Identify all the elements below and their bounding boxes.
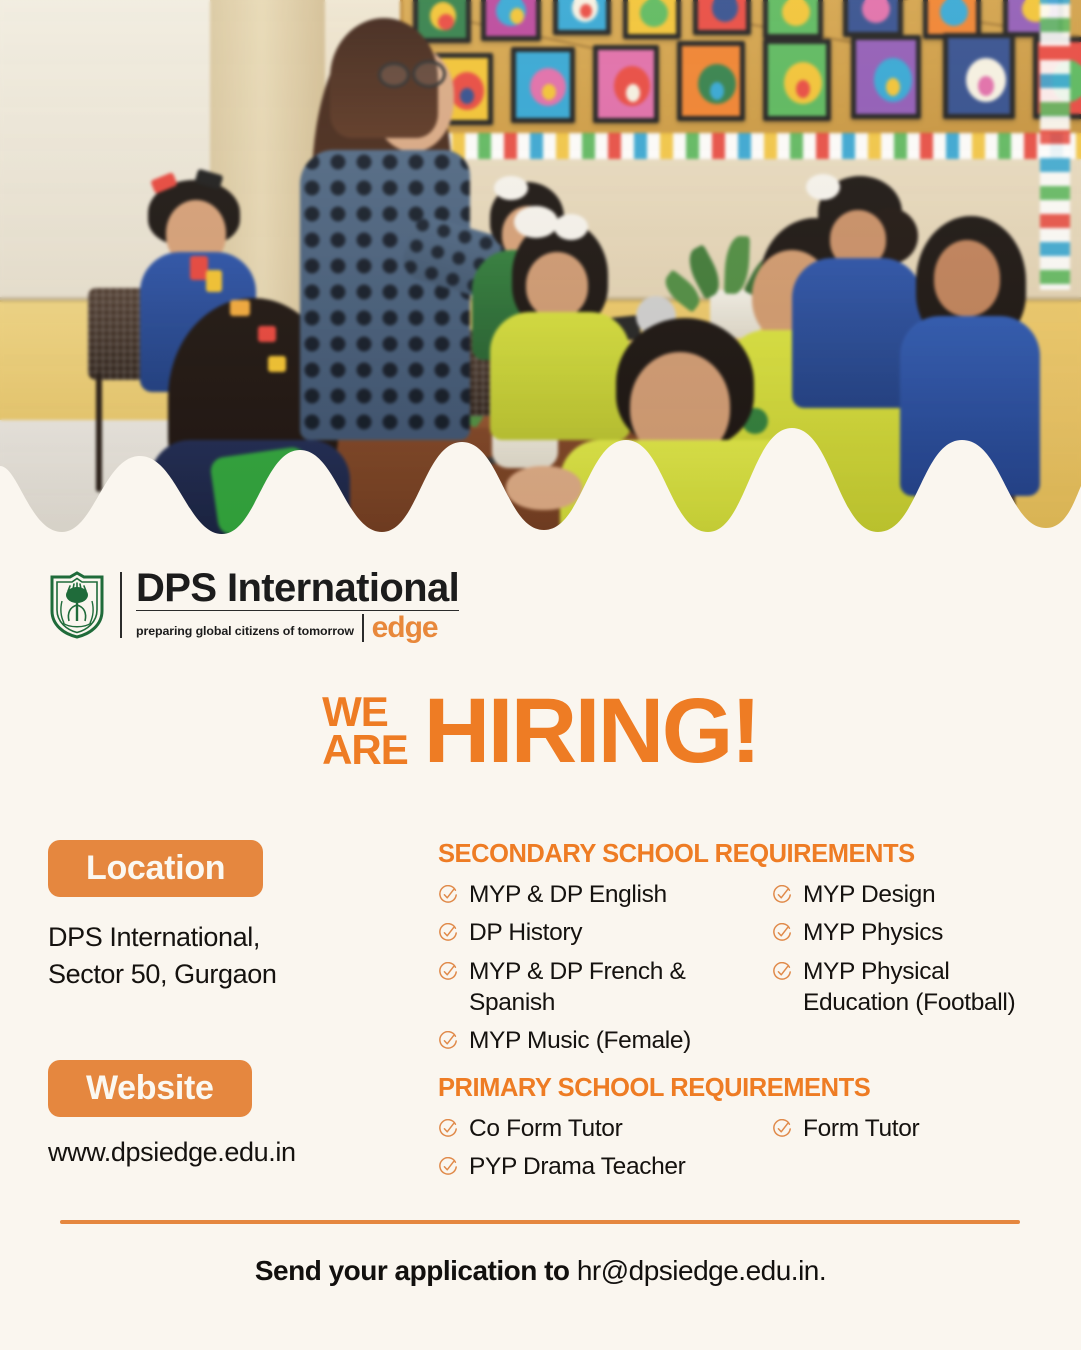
address-line-2: Sector 50, Gurgaon [48, 956, 398, 993]
requirement-label: Form Tutor [803, 1113, 919, 1144]
logo-wordmark: DPS International preparing global citiz… [136, 568, 459, 642]
check-circle-icon [438, 885, 458, 905]
primary-requirements-grid: Co Form Tutor PYP Drama Teacher [438, 1109, 1038, 1186]
requirement-label: DP History [469, 917, 582, 948]
footer: Send your application to hr@dpsiedge.edu… [0, 1255, 1081, 1287]
brand-logo: DPS International preparing global citiz… [48, 568, 459, 642]
check-circle-icon [438, 1157, 458, 1177]
secondary-left-list: MYP & DP English DP History [438, 875, 768, 1060]
requirement-label: PYP Drama Teacher [469, 1151, 685, 1182]
requirement-label: MYP Music (Female) [469, 1025, 691, 1056]
list-item: Form Tutor [772, 1109, 1042, 1147]
list-item: PYP Drama Teacher [438, 1147, 768, 1185]
check-circle-icon [438, 962, 458, 982]
logo-bar [362, 614, 364, 642]
logo-tagline: preparing global citizens of tomorrow [136, 624, 354, 642]
check-circle-icon [772, 1119, 792, 1139]
website-badge-wrap: Website [48, 1060, 398, 1117]
list-item: MYP Physics [772, 913, 1042, 951]
website-url[interactable]: www.dpsiedge.edu.in [48, 1137, 398, 1168]
requirement-label: MYP & DP French & Spanish [469, 956, 768, 1019]
dps-crest-icon [48, 571, 106, 639]
primary-left-list: Co Form Tutor PYP Drama Teacher [438, 1109, 768, 1186]
secondary-right-list: MYP Design MYP Physics [772, 875, 1042, 1060]
location-badge: Location [48, 840, 263, 897]
headline: WE ARE HIRING! [0, 690, 1081, 773]
list-item: Co Form Tutor [438, 1109, 768, 1147]
hero-photo-banner [0, 0, 1081, 560]
footer-prefix: Send your application to [255, 1255, 577, 1286]
check-circle-icon [772, 962, 792, 982]
secondary-requirements-grid: MYP & DP English DP History [438, 875, 1038, 1060]
list-item: MYP & DP English [438, 875, 768, 913]
wave-divider [0, 382, 1081, 560]
requirement-label: MYP Physics [803, 917, 943, 948]
check-circle-icon [772, 885, 792, 905]
headline-hiring: HIRING! [424, 690, 759, 773]
requirement-label: Co Form Tutor [469, 1113, 622, 1144]
requirement-label: MYP Design [803, 879, 935, 910]
headline-are: ARE [322, 731, 408, 770]
requirement-label: MYP & DP English [469, 879, 667, 910]
headline-we-are: WE ARE [322, 693, 408, 770]
website-badge: Website [48, 1060, 252, 1117]
footer-email[interactable]: hr@dpsiedge.edu.in. [577, 1255, 826, 1286]
requirement-label: MYP Physical Education (Football) [803, 956, 1042, 1019]
list-item: MYP Physical Education (Football) [772, 952, 1042, 1022]
section-divider [60, 1220, 1020, 1224]
address-line-1: DPS International, [48, 919, 398, 956]
logo-edge-word: edge [372, 615, 438, 641]
primary-requirements-title: PRIMARY SCHOOL REQUIREMENTS [438, 1074, 1038, 1103]
check-circle-icon [772, 923, 792, 943]
logo-subline: preparing global citizens of tomorrow ed… [136, 610, 459, 642]
right-column: SECONDARY SCHOOL REQUIREMENTS MYP & DP E… [438, 840, 1038, 1186]
secondary-requirements-title: SECONDARY SCHOOL REQUIREMENTS [438, 840, 1038, 869]
check-circle-icon [438, 1031, 458, 1051]
logo-divider [120, 572, 122, 638]
primary-right-list: Form Tutor [772, 1109, 1042, 1186]
location-address: DPS International, Sector 50, Gurgaon [48, 919, 398, 994]
list-item: DP History [438, 913, 768, 951]
list-item: MYP Music (Female) [438, 1021, 768, 1059]
list-item: MYP & DP French & Spanish [438, 952, 768, 1022]
logo-title: DPS International [136, 568, 459, 609]
check-circle-icon [438, 1119, 458, 1139]
left-column: Location DPS International, Sector 50, G… [48, 840, 398, 1168]
primary-requirements-section: PRIMARY SCHOOL REQUIREMENTS Co Form Tuto… [438, 1074, 1038, 1186]
check-circle-icon [438, 923, 458, 943]
list-item: MYP Design [772, 875, 1042, 913]
